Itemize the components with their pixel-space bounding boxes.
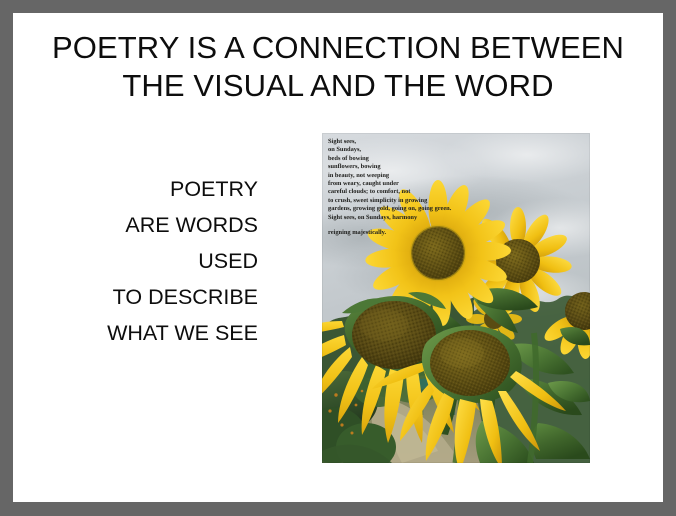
poem-coda-text: reigning majestically. bbox=[328, 229, 538, 237]
sunflowers-photograph: Sight sees, on Sundays, beds of bowing s… bbox=[322, 133, 590, 463]
slide-canvas: POETRY IS A CONNECTION BETWEEN THE VISUA… bbox=[13, 13, 663, 502]
page-title: POETRY IS A CONNECTION BETWEEN THE VISUA… bbox=[23, 29, 653, 105]
slide-border-frame: POETRY IS A CONNECTION BETWEEN THE VISUA… bbox=[0, 0, 676, 516]
body-line-1: POETRY bbox=[68, 171, 258, 207]
body-text-block: POETRY ARE WORDS USED TO DESCRIBE WHAT W… bbox=[68, 171, 258, 351]
body-line-3: USED bbox=[68, 243, 258, 279]
body-line-5: WHAT WE SEE bbox=[68, 315, 258, 351]
poem-overlay-text: Sight sees, on Sundays, beds of bowing s… bbox=[328, 138, 538, 222]
body-line-4: TO DESCRIBE bbox=[68, 279, 258, 315]
body-line-2: ARE WORDS bbox=[68, 207, 258, 243]
